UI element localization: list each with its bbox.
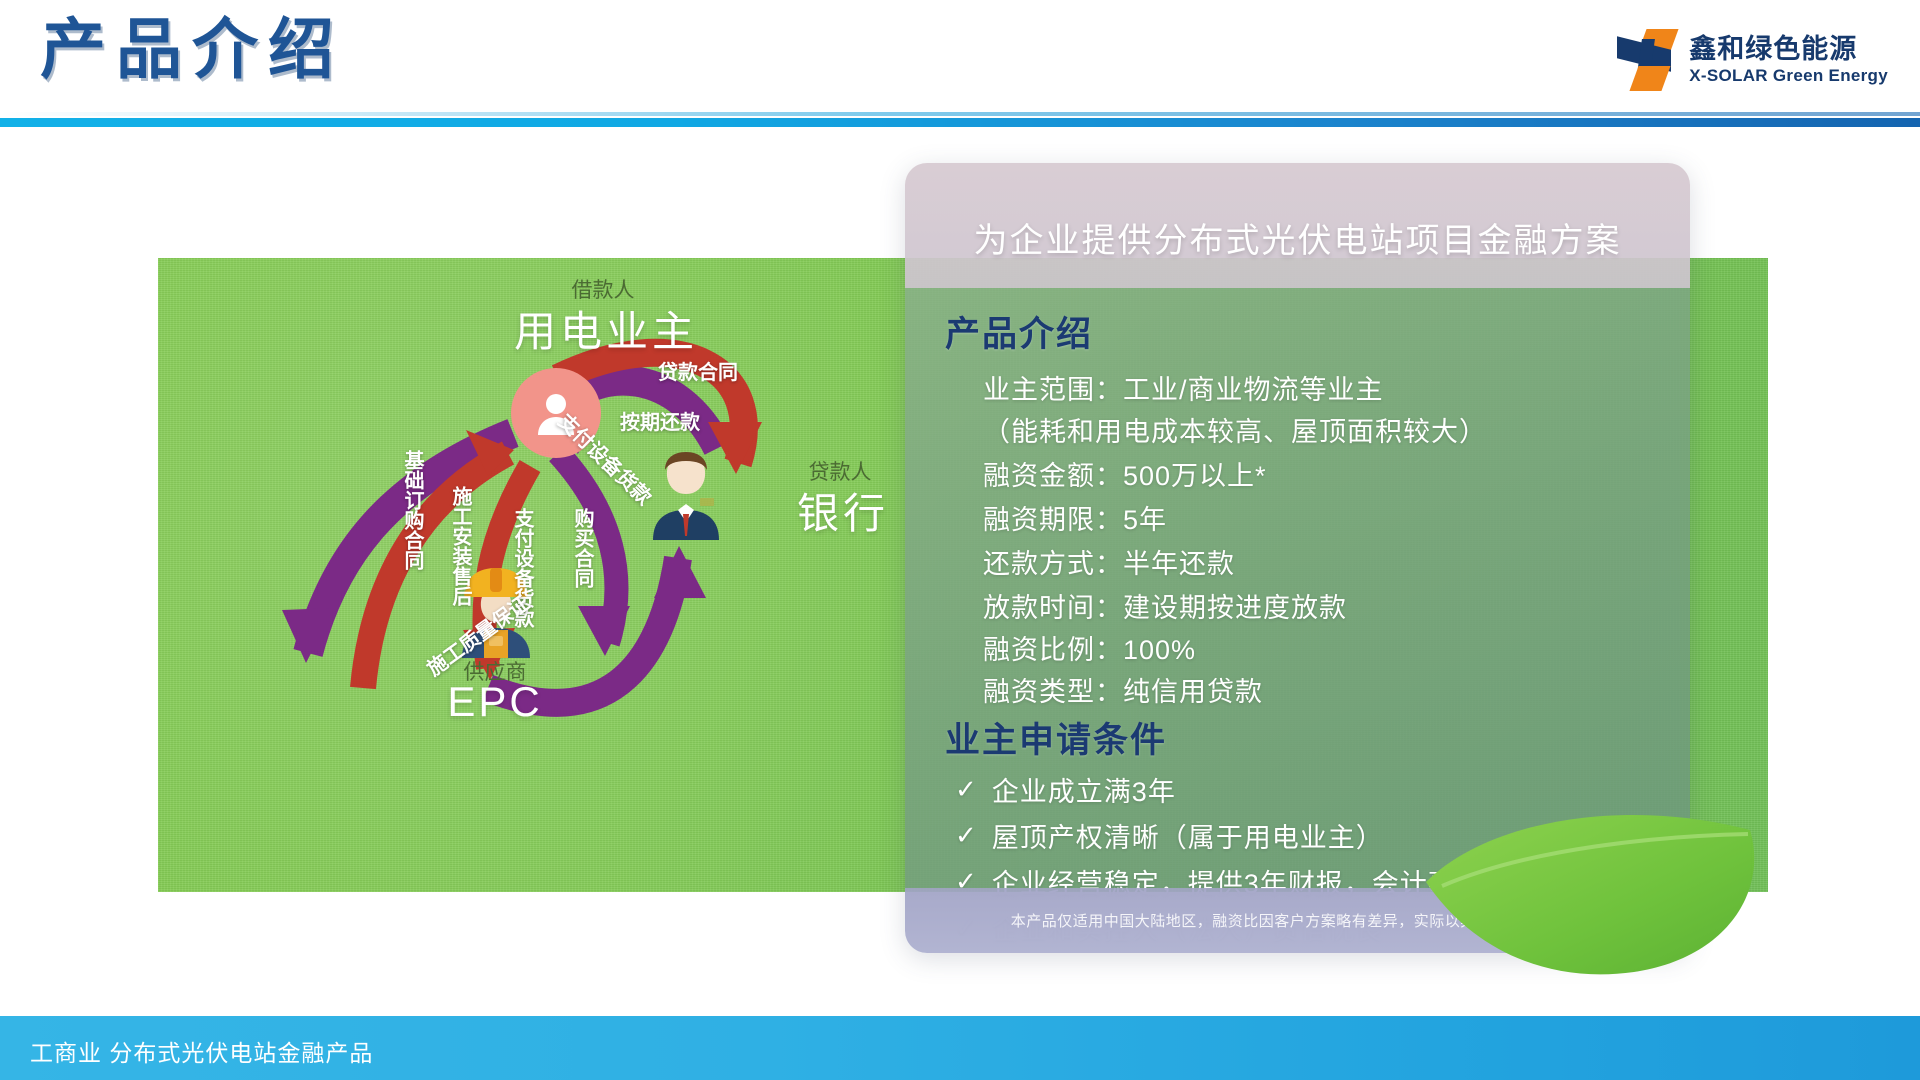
condition-text: 企业成立满3年 (992, 770, 1176, 809)
arrow-label-construction-service: 施工安装售后 (446, 486, 475, 606)
panel-footnote-band: 本产品仅适用中国大陆地区，融资比因客户方案略有差异，实际以具体项目签约为准 (905, 888, 1690, 953)
banker-icon (645, 448, 727, 540)
spec-owner-note: （能耗和用电成本较高、屋顶面积较大） (983, 410, 1487, 449)
spec-term: 融资期限：5年 (983, 498, 1167, 537)
panel-banner-text: 为企业提供分布式光伏电站项目金融方案 (905, 213, 1690, 262)
spec-type: 融资类型：纯信用贷款 (983, 670, 1263, 709)
logo-text: 鑫和绿色能源 X-SOLAR Green Energy (1689, 35, 1888, 84)
panel-header-band: 为企业提供分布式光伏电站项目金融方案 (905, 163, 1690, 288)
bank-name-label: 银行 (768, 480, 918, 541)
section-heading-product: 产品介绍 (945, 306, 1093, 357)
spec-amount: 融资金额：500万以上* (983, 454, 1267, 493)
footer-text: 工商业 分布式光伏电站金融产品 (30, 1034, 373, 1068)
page-header: 产品介绍 鑫和绿色能源 X-SOLAR Green Energy (0, 0, 1920, 128)
epc-name-label: EPC (420, 678, 570, 726)
arrow-label-purchase-contract: 购买合同 (568, 508, 597, 588)
logo-name-en: X-SOLAR Green Energy (1689, 67, 1888, 85)
arrow-label-loan-contract: 贷款合同 (658, 356, 738, 385)
page-footer: 工商业 分布式光伏电站金融产品 (0, 1016, 1920, 1080)
condition-item: ✓ 企业成立满3年 (955, 770, 1176, 809)
panel-body: 产品介绍 业主范围：工业/商业物流等业主 （能耗和用电成本较高、屋顶面积较大） … (905, 288, 1690, 888)
header-divider (0, 118, 1920, 127)
condition-item: ✓ 屋顶产权清晰（属于用电业主） (955, 816, 1384, 855)
check-icon: ✓ (955, 774, 978, 805)
arrow-label-repay-on-schedule: 按期还款 (620, 406, 700, 435)
company-logo: 鑫和绿色能源 X-SOLAR Green Energy (1615, 24, 1888, 96)
spec-repayment: 还款方式：半年还款 (983, 542, 1235, 581)
condition-text: 屋顶产权清晰（属于用电业主） (992, 816, 1384, 855)
section-heading-conditions: 业主申请条件 (945, 712, 1167, 763)
header-divider-glow (0, 112, 1920, 116)
spec-disbursement: 放款时间：建设期按进度放款 (983, 586, 1347, 625)
spec-owner-scope: 业主范围：工业/商业物流等业主 (983, 368, 1384, 407)
logo-name-cn: 鑫和绿色能源 (1689, 35, 1888, 63)
panel-footnote-text: 本产品仅适用中国大陆地区，融资比因客户方案略有差异，实际以具体项目签约为准 (905, 910, 1690, 931)
xsolar-mark-icon (1615, 27, 1675, 93)
spec-ratio: 融资比例：100% (983, 628, 1196, 667)
arrow-label-basic-order-contract: 基础订购合同 (398, 450, 427, 570)
owner-name-label: 用电业主 (476, 298, 736, 359)
product-info-panel: 为企业提供分布式光伏电站项目金融方案 产品介绍 业主范围：工业/商业物流等业主 … (905, 163, 1690, 953)
page-title: 产品介绍 (40, 8, 344, 91)
check-icon: ✓ (955, 820, 978, 851)
